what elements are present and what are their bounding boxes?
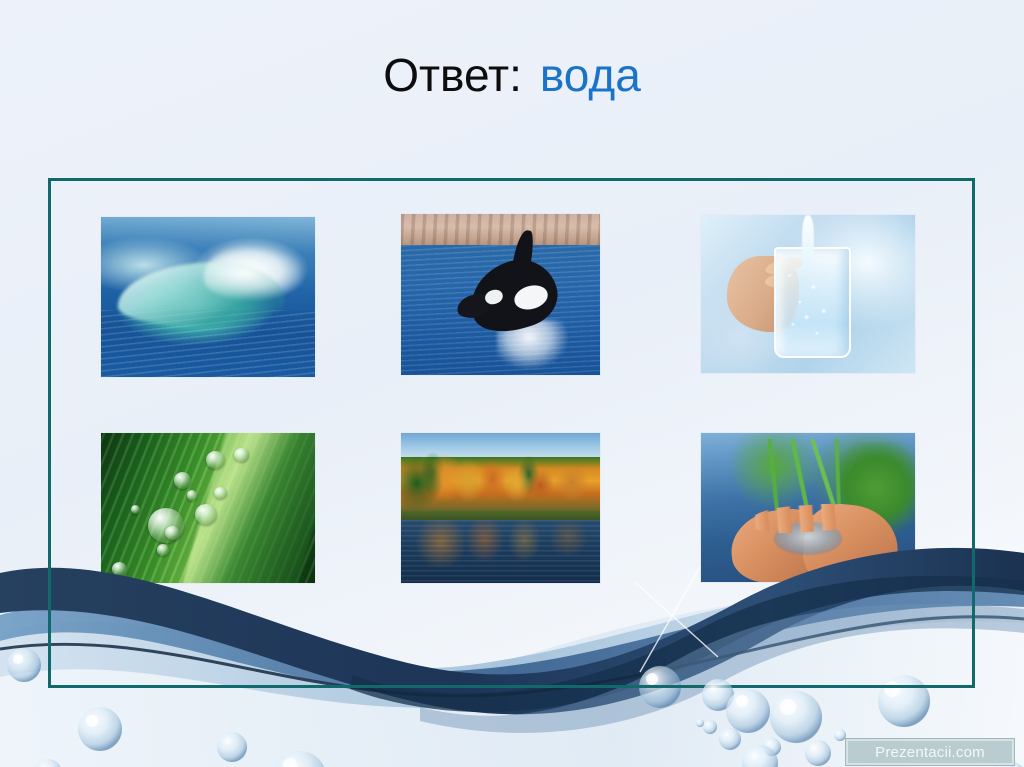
- orca-whale-photo[interactable]: [400, 213, 601, 376]
- autumn-trees: [401, 445, 600, 514]
- ocean-wave-photo[interactable]: [100, 216, 316, 378]
- title-colon: :: [509, 49, 522, 101]
- presentation-slide: Ответ:вода: [0, 0, 1024, 767]
- dew-drop: [195, 504, 216, 525]
- water-bubbles: [776, 262, 844, 350]
- shoreline: [401, 214, 600, 245]
- water-stream: [802, 215, 815, 269]
- glass-of-water-photo-inner: [701, 215, 915, 373]
- dew-drop: [131, 505, 140, 514]
- dew-drop: [174, 472, 191, 489]
- glass-of-water-photo[interactable]: [700, 214, 916, 374]
- ocean-wave-photo-inner: [101, 217, 315, 377]
- page-title: Ответ:вода: [0, 48, 1024, 102]
- title-prefix: Ответ: [383, 49, 509, 101]
- title-answer: вода: [540, 49, 641, 101]
- wave-foam: [204, 246, 302, 300]
- watermark-badge: Prezentacii.com: [846, 739, 1014, 765]
- dew-drop: [234, 448, 249, 462]
- dew-drop: [206, 451, 225, 469]
- dew-drop: [187, 490, 198, 501]
- shore-bank: [401, 511, 600, 520]
- watermark-text: Prezentacii.com: [875, 744, 985, 761]
- orca-whale-photo-inner: [401, 214, 600, 375]
